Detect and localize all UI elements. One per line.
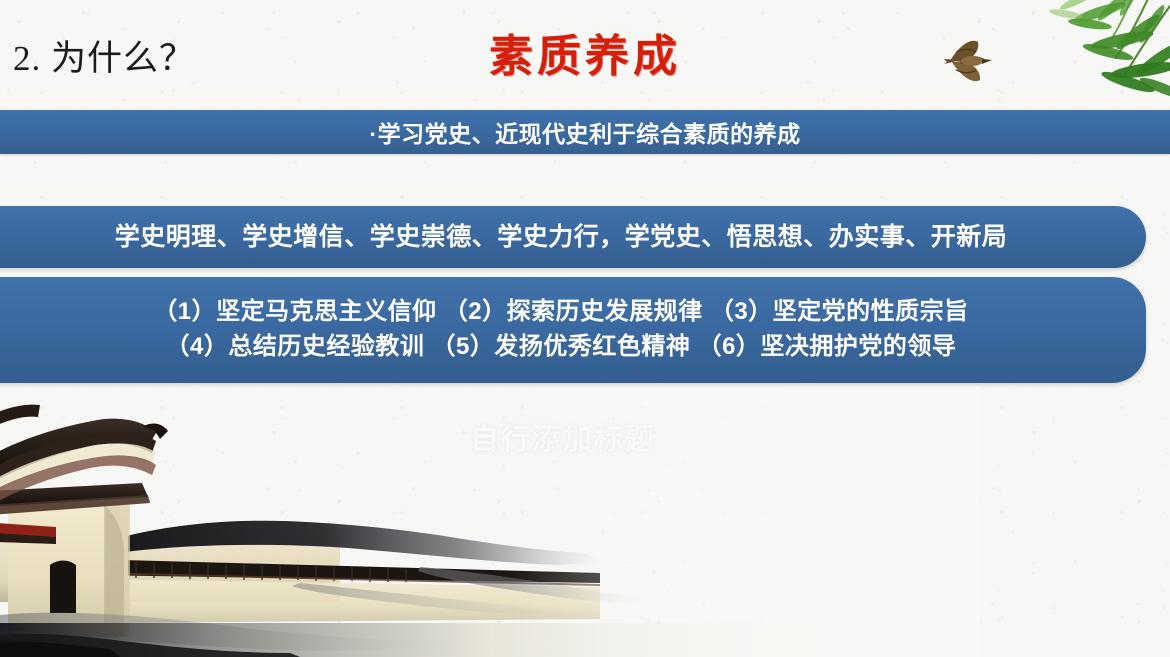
banner-points-line-1: （1）坚定马克思主义信仰 （2）探索历史发展规律 （3）坚定党的性质宗旨 [153,295,968,330]
blue-header-strip: ·学习党史、近现代史利于综合素质的养成 [0,110,1170,154]
banner-points-line-2: （4）总结历史经验教训 （5）发扬优秀红色精神 （6）坚决拥护党的领导 [166,330,957,365]
banner-slogan-primary: 学史明理、学史增信、学史崇德、学史力行，学党史、悟思想、办实事、开新局 [0,206,1146,268]
banner-slogan-primary-line: 学史明理、学史增信、学史崇德、学史力行，学党史、悟思想、办实事、开新局 [115,219,1008,255]
blue-strip-label: ·学习党史、近现代史利于综合素质的养成 [369,115,800,149]
banner-points-list: （1）坚定马克思主义信仰 （2）探索历史发展规律 （3）坚定党的性质宗旨 （4）… [0,277,1146,383]
page-title: 素质养成 [0,20,1170,84]
presentation-slide: 2. 为什么？ 素质养成 ·学习党史、近现代史利于综合素质的养成 学史明理、学史… [0,0,1170,657]
